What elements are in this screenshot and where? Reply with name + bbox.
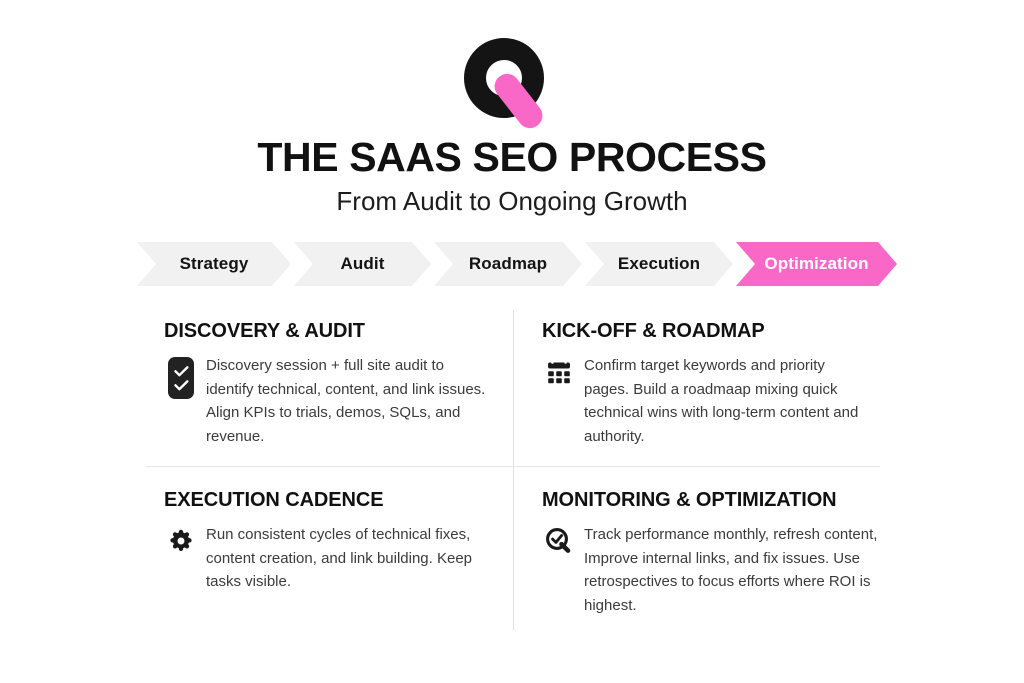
quadrant-title: MONITORING & OPTIMIZATION — [542, 487, 902, 513]
page-title: THE SAAS SEO PROCESS — [0, 132, 1024, 182]
quadrant-kickoff-roadmap: KICK-OFF & ROADMAP — [542, 318, 892, 448]
search-check-icon — [542, 524, 576, 558]
process-step-label: Audit — [341, 254, 385, 274]
quadrant-title: EXECUTION CADENCE — [164, 487, 514, 513]
process-step-label: Roadmap — [469, 254, 547, 274]
page-subtitle: From Audit to Ongoing Growth — [0, 184, 1024, 218]
quadrant-body: Discovery session + full site audit to i… — [164, 354, 514, 448]
quadrant-monitoring-optimization: MONITORING & OPTIMIZATION Track performa… — [542, 487, 902, 617]
quadrant-title: DISCOVERY & AUDIT — [164, 318, 514, 344]
process-step-audit[interactable]: Audit — [294, 242, 431, 286]
quadrant-body: Confirm target keywords and priority pag… — [542, 354, 892, 448]
quadrant-body: Track performance monthly, refresh conte… — [542, 523, 902, 617]
quadrant-text: Confirm target keywords and priority pag… — [584, 354, 872, 448]
calendar-icon — [542, 355, 576, 389]
process-step-execution[interactable]: Execution — [585, 242, 733, 286]
quadrant-title: KICK-OFF & ROADMAP — [542, 318, 892, 344]
quadrant-text: Track performance monthly, refresh conte… — [584, 523, 884, 617]
gear-icon — [164, 524, 198, 558]
process-step-optimization[interactable]: Optimization — [736, 242, 897, 286]
infographic-page: THE SAAS SEO PROCESS From Audit to Ongoi… — [0, 0, 1024, 683]
quadrant-text: Run consistent cycles of technical fixes… — [206, 523, 494, 594]
horizontal-divider — [146, 466, 880, 467]
process-step-label: Strategy — [180, 254, 249, 274]
process-step-label: Optimization — [764, 254, 868, 274]
process-step-label: Execution — [618, 254, 700, 274]
process-step-strategy[interactable]: Strategy — [137, 242, 291, 286]
quadrant-execution-cadence: EXECUTION CADENCE Run consistent cycles … — [164, 487, 514, 594]
quadrant-discovery-audit: DISCOVERY & AUDIT Discovery session + fu… — [164, 318, 514, 448]
logo-container — [0, 38, 1024, 134]
quadrant-grid: DISCOVERY & AUDIT Discovery session + fu… — [146, 310, 880, 630]
double-check-icon — [164, 355, 198, 389]
process-step-bar: Strategy Audit Roadmap Execution Optimiz… — [137, 242, 889, 286]
process-step-roadmap[interactable]: Roadmap — [434, 242, 582, 286]
quadrant-body: Run consistent cycles of technical fixes… — [164, 523, 514, 594]
q-logo — [464, 38, 560, 134]
quadrant-text: Discovery session + full site audit to i… — [206, 354, 494, 448]
